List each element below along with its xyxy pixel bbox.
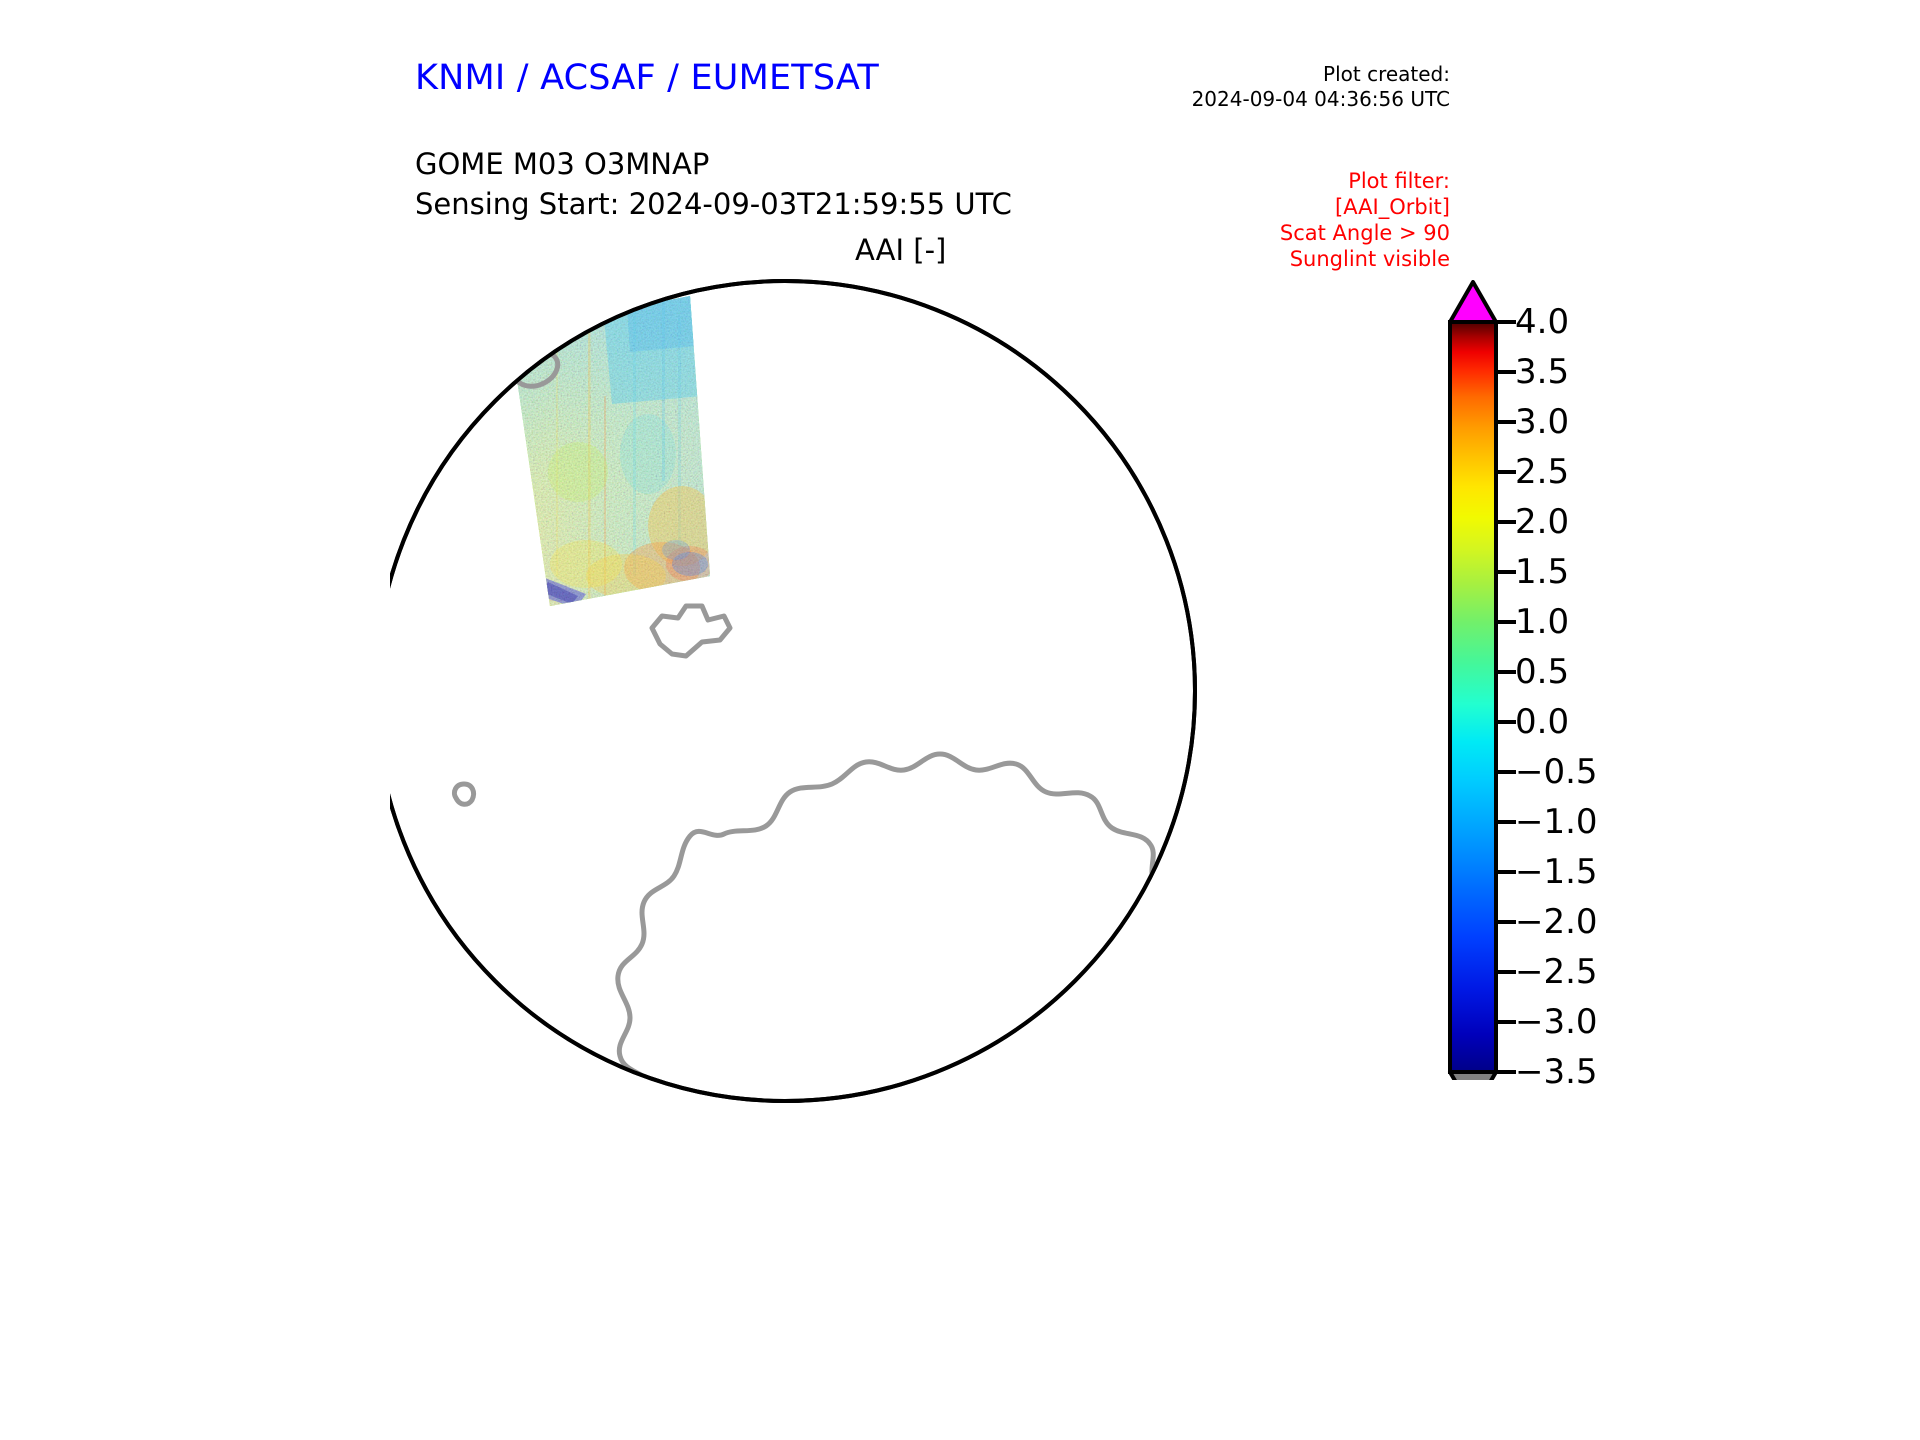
figure-canvas: KNMI / ACSAF / EUMETSAT Plot created: 20… <box>0 0 1920 1440</box>
colorbar-tick-label: 4.0 <box>1515 305 1569 339</box>
colorbar-tick-label: −2.0 <box>1515 905 1598 939</box>
colorbar-tick-label: 0.0 <box>1515 705 1569 739</box>
plot-filter-scat-angle: Scat Angle > 90 <box>1150 220 1450 246</box>
colorbar-tick-label: 3.0 <box>1515 405 1569 439</box>
map-panel <box>390 276 1420 1336</box>
map-boundary-circle <box>390 281 1195 1101</box>
colorbar-tick-label: −2.5 <box>1515 955 1598 989</box>
colorbar-ticks <box>1496 322 1516 1072</box>
colorbar-tick-label: 1.5 <box>1515 555 1569 589</box>
dataset-name: GOME M03 O3MNAP <box>415 144 1012 184</box>
colorbar-over-arrow <box>1450 282 1496 322</box>
colorbar-gradient <box>1450 322 1496 1072</box>
plot-created-label: Plot created: <box>1060 62 1450 87</box>
colorbar-tick-label: −1.5 <box>1515 855 1598 889</box>
dataset-title-block: GOME M03 O3MNAP Sensing Start: 2024-09-0… <box>415 144 1012 224</box>
colorbar-tick-label: −1.0 <box>1515 805 1598 839</box>
plot-created-value: 2024-09-04 04:36:56 UTC <box>1060 87 1450 112</box>
colorbar-tick-label: −3.0 <box>1515 1005 1598 1039</box>
plot-filter-product: [AAI_Orbit] <box>1150 194 1450 220</box>
colorbar-tick-label: 3.5 <box>1515 355 1569 389</box>
plot-axis-title: AAI [-] <box>855 233 946 267</box>
organisation-title: KNMI / ACSAF / EUMETSAT <box>415 58 879 98</box>
plot-filter-sunglint: Sunglint visible <box>1150 246 1450 272</box>
plot-filter-label: Plot filter: <box>1150 168 1450 194</box>
colorbar-under-arrow <box>1450 1072 1496 1080</box>
colorbar-tick-labels: 4.0 3.5 3.0 2.5 2.0 1.5 1.0 0.5 0.0 −0.5… <box>1515 280 1645 1080</box>
colorbar-tick-label: 0.5 <box>1515 655 1569 689</box>
colorbar-tick-label: 2.0 <box>1515 505 1569 539</box>
colorbar-tick-label: 2.5 <box>1515 455 1569 489</box>
polar-map-svg <box>390 276 1420 1336</box>
plot-created-block: Plot created: 2024-09-04 04:36:56 UTC <box>1060 62 1450 112</box>
sensing-start: Sensing Start: 2024-09-03T21:59:55 UTC <box>415 184 1012 224</box>
colorbar-tick-label: −0.5 <box>1515 755 1598 789</box>
colorbar-tick-label: 1.0 <box>1515 605 1569 639</box>
colorbar-tick-label: −3.5 <box>1515 1055 1598 1089</box>
plot-filter-block: Plot filter: [AAI_Orbit] Scat Angle > 90… <box>1150 168 1450 272</box>
coastline-fragment-upper <box>486 322 530 346</box>
